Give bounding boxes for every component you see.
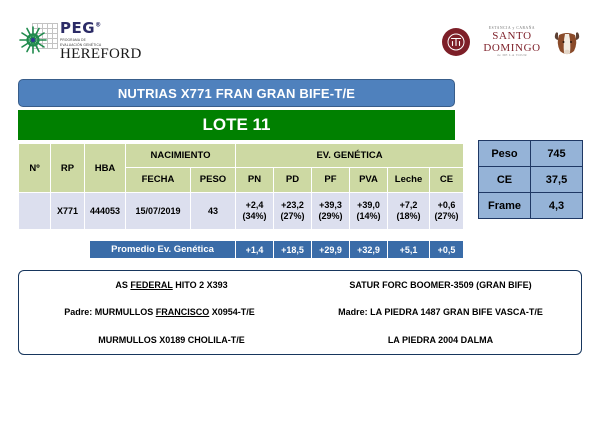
pedigree-dam: Madre: LA PIEDRA 1487 GRAN BIFE VASCA-T/… bbox=[300, 307, 581, 317]
measure-value-frame: 4,3 bbox=[531, 193, 583, 219]
table-row: X771 444053 15/07/2019 43 +2,4 (34%) +23… bbox=[19, 193, 463, 229]
hereford-bull-head-icon bbox=[552, 27, 582, 57]
cell-pd: +23,2 (27%) bbox=[274, 193, 311, 229]
measure-label-ce: CE bbox=[479, 167, 531, 193]
cell-n bbox=[19, 193, 50, 229]
pedigree-dam-granddam-text: LA PIEDRA 2004 DALMA bbox=[388, 335, 493, 345]
col-header-leche: Leche bbox=[388, 168, 429, 192]
santo-domingo-logo: ESTANCIA y CABAÑA SANTO DOMINGO de DE LA… bbox=[442, 22, 582, 62]
animal-data-table: Nº RP HBA NACIMIENTO EV. GENÉTICA FECHA … bbox=[18, 143, 464, 230]
pedigree-dam-grandsire: SATUR FORC BOOMER-3509 (GRAN BIFE) bbox=[300, 280, 581, 290]
pedigree-sire-text: MURMULLOS FRANCISCO X0954-T/E bbox=[95, 307, 255, 317]
measure-label-frame: Frame bbox=[479, 193, 531, 219]
pedigree-dam-text: LA PIEDRA 1487 GRAN BIFE VASCA-T/E bbox=[370, 307, 543, 317]
cell-pn-value: +2,4 bbox=[236, 200, 273, 211]
cell-pd-pct: (27%) bbox=[274, 211, 311, 222]
cell-pf: +39,3 (29%) bbox=[312, 193, 349, 229]
col-header-n: Nº bbox=[19, 144, 50, 192]
cell-pva-pct: (14%) bbox=[350, 211, 387, 222]
promedio-ce: +0,5 bbox=[430, 241, 463, 258]
col-header-pd: PD bbox=[274, 168, 311, 192]
cell-ce-pct: (27%) bbox=[430, 211, 463, 222]
col-header-fecha: FECHA bbox=[126, 168, 190, 192]
promedio-pf: +29,9 bbox=[312, 241, 349, 258]
pedigree-dam-grandsire-text: SATUR FORC BOOMER-3509 (GRAN BIFE) bbox=[349, 280, 531, 290]
cell-fecha: 15/07/2019 bbox=[126, 193, 190, 229]
measure-row-peso: Peso 745 bbox=[479, 141, 583, 167]
pedigree-panel: AS FEDERAL HITO 2 X393 SATUR FORC BOOMER… bbox=[18, 270, 582, 355]
cell-peso: 43 bbox=[191, 193, 235, 229]
peg-wordmark: PEG bbox=[60, 19, 95, 37]
measure-value-ce: 37,5 bbox=[531, 167, 583, 193]
promedio-pn: +1,4 bbox=[236, 241, 273, 258]
cell-ce-value: +0,6 bbox=[430, 200, 463, 211]
peg-logo-mark bbox=[18, 21, 58, 61]
cell-leche: +7,2 (18%) bbox=[388, 193, 429, 229]
promedio-label: Promedio Ev. Genética bbox=[90, 241, 235, 258]
promedio-pd: +18,5 bbox=[274, 241, 311, 258]
promedio-values-row: Promedio Ev. Genética +1,4 +18,5 +29,9 +… bbox=[90, 241, 463, 258]
santo-domingo-bottom-line: de DE LA TOUR bbox=[475, 54, 549, 57]
peg-sub-line-1: PROGRAMA DE bbox=[60, 38, 142, 42]
pedigree-sire: Padre: MURMULLOS FRANCISCO X0954-T/E bbox=[19, 307, 300, 317]
cell-pn-pct: (34%) bbox=[236, 211, 273, 222]
measures-table: Peso 745 CE 37,5 Frame 4,3 bbox=[478, 140, 583, 219]
pedigree-dam-label: Madre: bbox=[338, 307, 368, 317]
promedio-pva: +32,9 bbox=[350, 241, 387, 258]
col-header-pf: PF bbox=[312, 168, 349, 192]
page-title: NUTRIAS X771 FRAN GRAN BIFE-T/E bbox=[18, 79, 455, 107]
cell-pn: +2,4 (34%) bbox=[236, 193, 273, 229]
col-header-ce: CE bbox=[430, 168, 463, 192]
measure-value-peso: 745 bbox=[531, 141, 583, 167]
cell-pd-value: +23,2 bbox=[274, 200, 311, 211]
peg-breed-name: HEREFORD bbox=[60, 47, 142, 62]
peg-burst-icon bbox=[18, 25, 48, 55]
col-header-pva: PVA bbox=[350, 168, 387, 192]
col-header-hba: HBA bbox=[85, 144, 125, 192]
cell-rp: X771 bbox=[51, 193, 84, 229]
cell-pf-value: +39,3 bbox=[312, 200, 349, 211]
pedigree-sire-granddam: MURMULLOS X0189 CHOLILA-T/E bbox=[19, 335, 300, 345]
col-header-ev-genetica: EV. GENÉTICA bbox=[236, 144, 463, 167]
lote-banner: LOTE 11 bbox=[18, 110, 455, 140]
cell-ce: +0,6 (27%) bbox=[430, 193, 463, 229]
cell-pva: +39,0 (14%) bbox=[350, 193, 387, 229]
cell-hba: 444053 bbox=[85, 193, 125, 229]
santo-domingo-name: SANTO DOMINGO bbox=[475, 30, 549, 54]
measure-row-ce: CE 37,5 bbox=[479, 167, 583, 193]
table-header-group-row: Nº RP HBA NACIMIENTO EV. GENÉTICA bbox=[19, 144, 463, 167]
pedigree-sire-granddam-text: MURMULLOS X0189 CHOLILA-T/E bbox=[98, 335, 245, 345]
promedio-row: Promedio Ev. Genética +1,4 +18,5 +29,9 +… bbox=[89, 240, 464, 259]
measure-row-frame: Frame 4,3 bbox=[479, 193, 583, 219]
col-header-peso: PESO bbox=[191, 168, 235, 192]
col-header-rp: RP bbox=[51, 144, 84, 192]
santo-domingo-seal-icon bbox=[442, 28, 470, 56]
peg-registered-icon: ® bbox=[95, 21, 102, 28]
peg-hereford-logo: PEG® PROGRAMA DE EVALUACIÓN GENÉTICA HER… bbox=[18, 18, 130, 64]
pedigree-sire-grandsire: AS FEDERAL HITO 2 X393 bbox=[19, 280, 300, 290]
pedigree-sire-grandsire-text: AS FEDERAL HITO 2 X393 bbox=[115, 280, 227, 290]
pedigree-sire-label: Padre: bbox=[64, 307, 92, 317]
col-header-pn: PN bbox=[236, 168, 273, 192]
promedio-leche: +5,1 bbox=[388, 241, 429, 258]
cell-leche-pct: (18%) bbox=[388, 211, 429, 222]
cell-leche-value: +7,2 bbox=[388, 200, 429, 211]
col-header-nacimiento: NACIMIENTO bbox=[126, 144, 235, 167]
measure-label-peso: Peso bbox=[479, 141, 531, 167]
cell-pva-value: +39,0 bbox=[350, 200, 387, 211]
cell-pf-pct: (29%) bbox=[312, 211, 349, 222]
pedigree-dam-granddam: LA PIEDRA 2004 DALMA bbox=[300, 335, 581, 345]
